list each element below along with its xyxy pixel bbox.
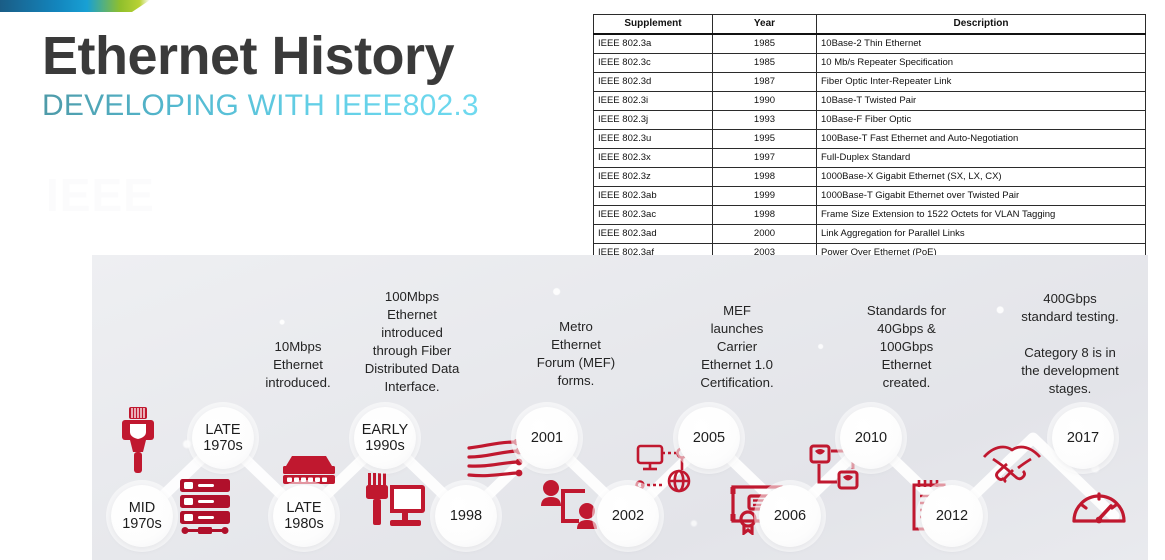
table-header: Supplement Year Description: [594, 15, 1146, 35]
cell-year: 1985: [713, 34, 817, 54]
timeline-node-1998[interactable]: 1998: [435, 485, 497, 547]
cell-description: 10 Mb/s Repeater Specification: [817, 54, 1146, 73]
cell-supplement: IEEE 802.3ac: [594, 206, 713, 225]
timeline-node-late-1980s[interactable]: LATE 1980s: [273, 485, 335, 547]
cell-year: 1985: [713, 54, 817, 73]
title-block: Ethernet History DEVELOPING WITH IEEE802…: [42, 28, 479, 123]
column-header-description: Description: [817, 15, 1146, 35]
cell-supplement: IEEE 802.3z: [594, 168, 713, 187]
caption-400gbps: 400Gbps standard testing. Category 8 is …: [1000, 290, 1140, 398]
page-subtitle: DEVELOPING WITH IEEE802.3: [42, 89, 479, 123]
cell-year: 1990: [713, 92, 817, 111]
table-row: IEEE 802.3x1997Full-Duplex Standard: [594, 149, 1146, 168]
cell-year: 1987: [713, 73, 817, 92]
table-row: IEEE 802.3a198510Base-2 Thin Ethernet: [594, 34, 1146, 54]
fiber-strands-icon: [467, 439, 523, 483]
caption-mef-forms: Metro Ethernet Forum (MEF) forms.: [516, 318, 636, 390]
cell-supplement: IEEE 802.3x: [594, 149, 713, 168]
timeline-node-2006[interactable]: 2006: [759, 485, 821, 547]
cell-description: 10Base-2 Thin Ethernet: [817, 34, 1146, 54]
table-row: IEEE 802.3ab19991000Base-T Gigabit Ether…: [594, 187, 1146, 206]
server-rack-icon: [176, 477, 234, 535]
timeline-node-mid-1970s[interactable]: MID 1970s: [111, 485, 173, 547]
cell-supplement: IEEE 802.3j: [594, 111, 713, 130]
timeline-node-2010[interactable]: 2010: [840, 407, 902, 469]
ethernet-timeline: 10Mbps Ethernet introduced. 100Mbps Ethe…: [92, 255, 1148, 560]
page-title: Ethernet History: [42, 28, 479, 85]
rj45-connector-icon: [117, 407, 159, 473]
table-body: IEEE 802.3a198510Base-2 Thin Ethernet IE…: [594, 34, 1146, 263]
column-header-year: Year: [713, 15, 817, 35]
timeline-node-early-1990s[interactable]: EARLY 1990s: [354, 407, 416, 469]
cell-supplement: IEEE 802.3ab: [594, 187, 713, 206]
timeline-node-2005[interactable]: 2005: [678, 407, 740, 469]
cell-description: Frame Size Extension to 1522 Octets for …: [817, 206, 1146, 225]
cell-description: Fiber Optic Inter-Repeater Link: [817, 73, 1146, 92]
caption-10mbps: 10Mbps Ethernet introduced.: [238, 338, 358, 392]
table-row: IEEE 802.3ac1998Frame Size Extension to …: [594, 206, 1146, 225]
cell-description: 10Base-T Twisted Pair: [817, 92, 1146, 111]
cell-year: 1998: [713, 168, 817, 187]
background-watermark: IEEE: [46, 168, 155, 222]
timeline-node-late-1970s[interactable]: LATE 1970s: [192, 407, 254, 469]
speedometer-icon: [1070, 481, 1128, 527]
cell-supplement: IEEE 802.3i: [594, 92, 713, 111]
column-header-supplement: Supplement: [594, 15, 713, 35]
table-row: IEEE 802.3z19981000Base-X Gigabit Ethern…: [594, 168, 1146, 187]
cell-description: 1000Base-T Gigabit Ethernet over Twisted…: [817, 187, 1146, 206]
table-row: IEEE 802.3ad2000Link Aggregation for Par…: [594, 225, 1146, 244]
cell-supplement: IEEE 802.3a: [594, 34, 713, 54]
cell-description: 10Base-F Fiber Optic: [817, 111, 1146, 130]
table-row: IEEE 802.3i199010Base-T Twisted Pair: [594, 92, 1146, 111]
table-row: IEEE 802.3d1987Fiber Optic Inter-Repeate…: [594, 73, 1146, 92]
timeline-node-2002[interactable]: 2002: [597, 485, 659, 547]
timeline-node-2017[interactable]: 2017: [1052, 407, 1114, 469]
caption-40-100gbps: Standards for 40Gbps & 100Gbps Ethernet …: [844, 302, 969, 392]
table-row: IEEE 802.3u1995100Base-T Fast Ethernet a…: [594, 130, 1146, 149]
caption-mef-carrier: MEF launches Carrier Ethernet 1.0 Certif…: [677, 302, 797, 392]
cell-description: Link Aggregation for Parallel Links: [817, 225, 1146, 244]
cell-description: 1000Base-X Gigabit Ethernet (SX, LX, CX): [817, 168, 1146, 187]
table-row: IEEE 802.3c198510 Mb/s Repeater Specific…: [594, 54, 1146, 73]
cell-year: 1997: [713, 149, 817, 168]
cell-year: 1995: [713, 130, 817, 149]
cell-supplement: IEEE 802.3ad: [594, 225, 713, 244]
timeline-node-2012[interactable]: 2012: [921, 485, 983, 547]
ieee-supplements-table-wrapper: Supplement Year Description IEEE 802.3a1…: [593, 14, 1146, 263]
cell-year: 2000: [713, 225, 817, 244]
cell-description: Full-Duplex Standard: [817, 149, 1146, 168]
cell-description: 100Base-T Fast Ethernet and Auto-Negotia…: [817, 130, 1146, 149]
cell-year: 1993: [713, 111, 817, 130]
brand-accent-bar: [0, 0, 150, 12]
caption-100mbps: 100Mbps Ethernet introduced through Fibe…: [347, 288, 477, 396]
network-switch-icon: [278, 453, 340, 487]
ieee-supplements-table: Supplement Year Description IEEE 802.3a1…: [593, 14, 1146, 263]
user-network-icon: [540, 479, 598, 535]
timeline-node-2001[interactable]: 2001: [516, 407, 578, 469]
slide-canvas: Ethernet History DEVELOPING WITH IEEE802…: [0, 0, 1165, 560]
cell-supplement: IEEE 802.3d: [594, 73, 713, 92]
handshake-icon: [981, 441, 1043, 485]
cell-year: 1998: [713, 206, 817, 225]
fiber-to-monitor-icon: [364, 471, 426, 533]
table-row: IEEE 802.3j199310Base-F Fiber Optic: [594, 111, 1146, 130]
cell-year: 1999: [713, 187, 817, 206]
cell-supplement: IEEE 802.3u: [594, 130, 713, 149]
cell-supplement: IEEE 802.3c: [594, 54, 713, 73]
table-header-row: Supplement Year Description: [594, 15, 1146, 35]
